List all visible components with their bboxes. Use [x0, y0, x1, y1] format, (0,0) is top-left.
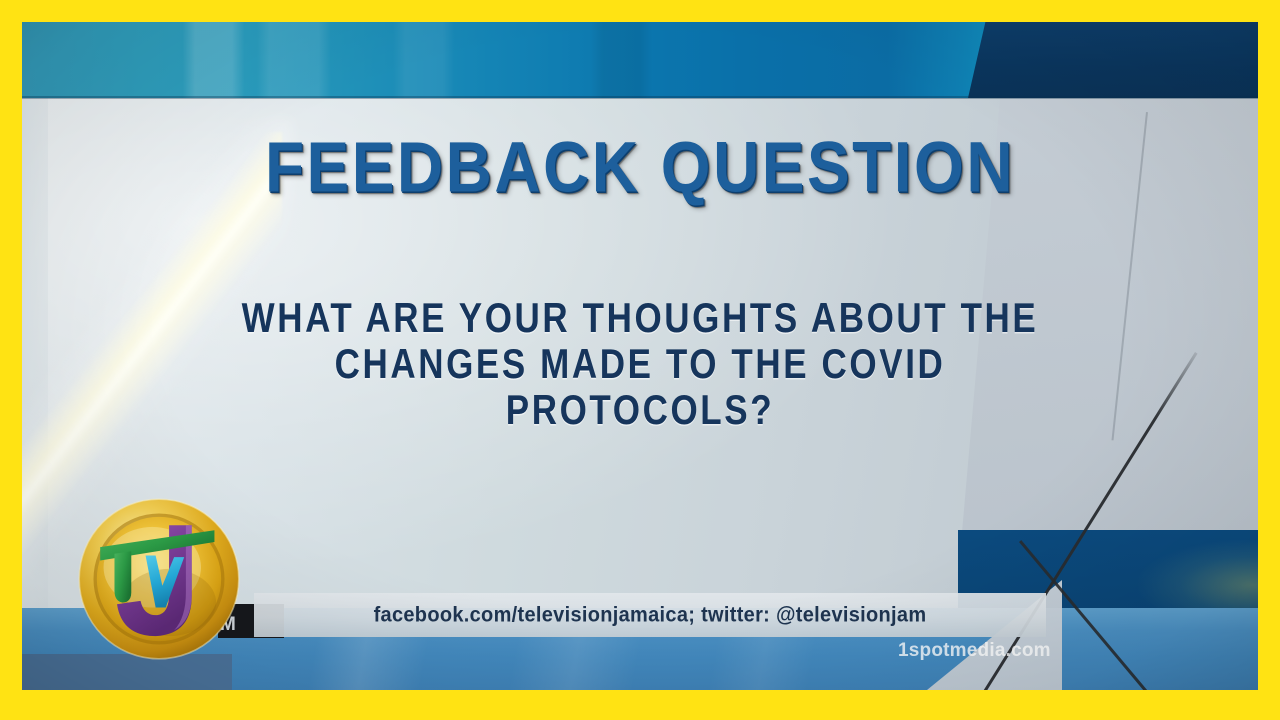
title-container: FEEDBACK QUESTION	[22, 130, 1258, 204]
question-line-3: PROTOCOLS?	[80, 384, 1200, 438]
tvj-logo	[75, 495, 243, 663]
social-handles-bar: facebook.com/televisionjamaica; twitter:…	[254, 593, 1046, 637]
video-stage: FEEDBACK QUESTION WHAT ARE YOUR THOUGHTS…	[22, 22, 1258, 690]
source-watermark: 1spotmedia.com	[898, 640, 1051, 662]
page-title: FEEDBACK QUESTION	[265, 126, 1015, 209]
question-container: WHAT ARE YOUR THOUGHTS ABOUT THE CHANGES…	[80, 292, 1200, 430]
social-handles-text: facebook.com/televisionjamaica; twitter:…	[374, 603, 927, 627]
broadcast-frame: FEEDBACK QUESTION WHAT ARE YOUR THOUGHTS…	[0, 0, 1280, 720]
banner-underline	[22, 96, 1258, 99]
top-banner-navy-block	[968, 22, 1258, 98]
